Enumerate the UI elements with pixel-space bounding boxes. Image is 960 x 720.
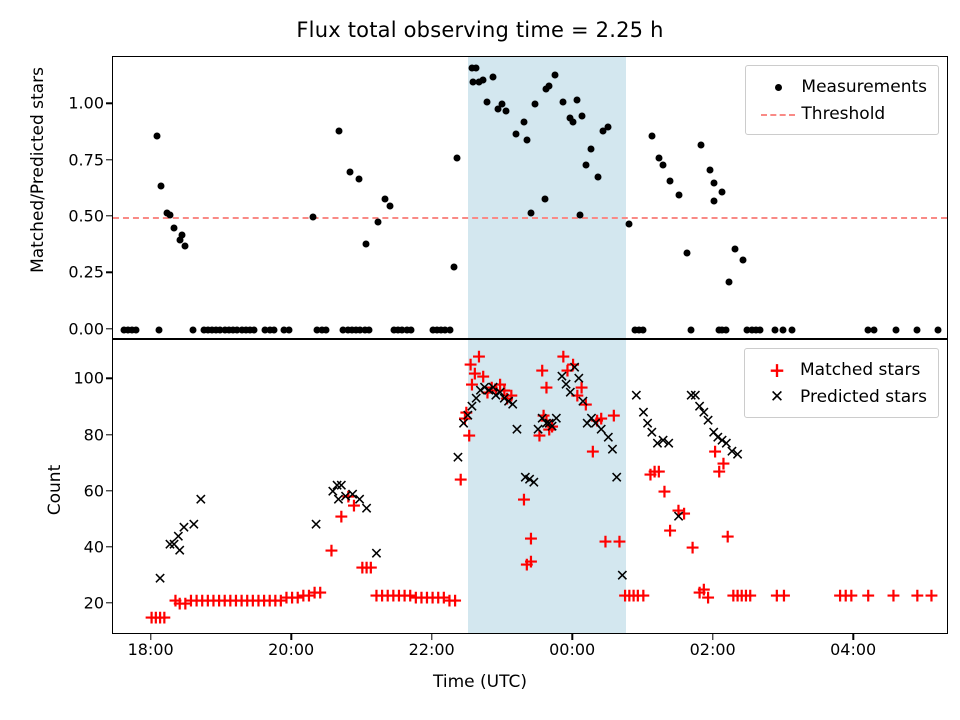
y-tick-label: 0.50 [46,207,104,226]
data-point: + [657,482,673,501]
data-point: + [860,586,876,605]
data-point [355,175,362,182]
y-tick-mark [106,490,112,491]
data-point: + [324,541,340,560]
x-tick-mark [712,634,713,640]
legend-item-matched-stars: + Matched stars [754,356,927,383]
x-tick-mark [150,634,151,640]
data-point [473,65,480,72]
figure-canvas: Flux total observing time = 2.25 h Measu… [0,0,960,720]
ratio-axis-label: Matched/Predicted stars [28,50,48,290]
data-point: + [886,586,902,605]
data-point: + [700,589,716,608]
data-point [512,130,519,137]
data-point [407,326,414,333]
data-point: + [843,586,859,605]
data-point: + [923,586,939,605]
y-tick-mark [106,434,112,435]
data-point [578,112,585,119]
data-point [178,232,185,239]
data-point: + [635,586,651,605]
data-point [594,173,601,180]
data-point [573,96,580,103]
data-point: + [523,552,539,571]
y-tick-label: 0.25 [46,263,104,282]
data-point: ✕ [309,517,322,533]
data-point [560,99,567,106]
data-point: ✕ [527,475,540,491]
x-tick-label: 18:00 [128,640,174,659]
cross-marker-icon: ✕ [754,387,800,407]
legend-label-measurements: Measurements [801,77,927,97]
y-tick-label: 40 [46,537,104,556]
legend-item-measurements: Measurements [755,73,927,100]
data-point: + [471,347,487,366]
data-point [683,250,690,257]
data-point [707,166,714,173]
data-point: ✕ [610,470,623,486]
data-point [484,99,491,106]
legend-item-threshold: Threshold [755,100,927,127]
data-point [582,162,589,169]
data-point [362,241,369,248]
data-point [503,108,510,115]
data-point [190,326,197,333]
x-tick-mark [290,634,291,640]
y-tick-mark [106,378,112,379]
legend-item-predicted-stars: ✕ Predicted stars [754,383,927,410]
y-tick-label: 1.00 [46,94,104,113]
data-point [166,211,173,218]
y-tick-mark [106,602,112,603]
data-point: ✕ [616,568,629,584]
data-point [605,123,612,130]
data-point: ✕ [451,450,464,466]
data-point: ✕ [153,571,166,587]
x-tick-label: 22:00 [409,640,455,659]
data-point [542,196,549,203]
data-point [270,326,277,333]
data-point [640,326,647,333]
x-tick-label: 02:00 [690,640,736,659]
y-tick-mark [106,272,112,273]
data-point: + [516,491,532,510]
data-point: + [447,592,463,611]
measurement-dot-icon [755,77,801,96]
data-point [710,198,717,205]
data-point [374,218,381,225]
data-point [719,189,726,196]
data-point: ✕ [672,509,685,525]
data-point [740,256,747,263]
x-tick-mark [431,634,432,640]
data-point [688,326,695,333]
data-point: + [651,463,667,482]
data-point [310,214,317,221]
y-tick-label: 80 [46,425,104,444]
plus-marker-icon: + [754,358,800,382]
data-point [546,83,553,90]
data-point: ✕ [731,447,744,463]
data-point [726,279,733,286]
data-point: + [606,406,622,425]
y-tick-label: 20 [46,594,104,613]
data-point: ✕ [360,501,373,517]
data-point: + [523,530,539,549]
data-point [133,326,140,333]
data-point [346,169,353,176]
threshold-dash-icon [755,104,801,123]
data-point [870,326,877,333]
y-tick-mark [106,328,112,329]
data-point [286,326,293,333]
data-point [626,220,633,227]
data-point: ✕ [630,388,643,404]
data-point: ✕ [187,517,200,533]
data-point [446,326,453,333]
y-tick-mark [106,546,112,547]
data-point [155,326,162,333]
data-point: ✕ [576,394,589,410]
data-point [935,326,942,333]
data-point [779,326,786,333]
data-point: + [312,583,328,602]
data-point: ✕ [510,422,523,438]
data-point [570,119,577,126]
x-tick-label: 04:00 [830,640,876,659]
page-title: Flux total observing time = 2.25 h [0,18,960,42]
count-panel: ++++++++++++++++++++++++++++++++++++++++… [112,339,948,634]
data-point: + [612,533,628,552]
data-point: + [453,471,469,490]
data-point: ✕ [173,543,186,559]
data-point [171,225,178,232]
data-point [157,182,164,189]
y-tick-label: 60 [46,481,104,500]
data-point [675,191,682,198]
data-point: + [720,527,736,546]
data-point: ✕ [606,442,619,458]
x-tick-mark [852,634,853,640]
data-point: ✕ [662,436,675,452]
data-point [387,202,394,209]
data-point: ✕ [550,411,563,427]
data-point [757,326,764,333]
data-point [520,119,527,126]
ratio-panel-legend: Measurements Threshold [745,65,939,135]
data-point [772,326,779,333]
data-point: + [685,538,701,557]
y-tick-label: 100 [46,369,104,388]
x-axis-label: Time (UTC) [0,672,960,692]
data-point [480,76,487,83]
data-point: ✕ [506,397,519,413]
y-tick-mark [106,103,112,104]
data-point: + [585,443,601,462]
x-tick-mark [571,634,572,640]
data-point [648,132,655,139]
data-point [322,326,329,333]
data-point [723,326,730,333]
data-point [577,211,584,218]
data-point: ✕ [572,371,585,387]
threshold-line [113,217,947,219]
data-point [731,245,738,252]
y-tick-mark [106,215,112,216]
legend-label-threshold: Threshold [801,104,885,124]
data-point [667,178,674,185]
data-point [710,180,717,187]
count-panel-legend: + Matched stars ✕ Predicted stars [744,348,939,418]
y-tick-label: 0.00 [46,319,104,338]
data-point [551,72,558,79]
ratio-panel: Measurements Threshold [112,56,948,339]
data-point [453,155,460,162]
data-point: ✕ [194,492,207,508]
data-point [381,196,388,203]
data-point [660,162,667,169]
data-point [154,132,161,139]
data-point: + [776,586,792,605]
data-point [698,141,705,148]
data-point: ✕ [370,546,383,562]
x-tick-label: 00:00 [549,640,595,659]
data-point [588,146,595,153]
x-tick-label: 20:00 [268,640,314,659]
data-point [893,326,900,333]
data-point [251,326,258,333]
y-tick-mark [106,159,112,160]
data-point: + [538,378,554,397]
data-point [914,326,921,333]
y-tick-label: 0.75 [46,150,104,169]
data-point [490,74,497,81]
data-point: + [742,586,758,605]
data-point [789,326,796,333]
data-point [365,326,372,333]
legend-label-predicted-stars: Predicted stars [800,387,927,407]
data-point [335,128,342,135]
data-point [182,243,189,250]
data-point [523,137,530,144]
data-point [532,101,539,108]
data-point [528,209,535,216]
legend-label-matched-stars: Matched stars [800,360,920,380]
data-point [450,263,457,270]
